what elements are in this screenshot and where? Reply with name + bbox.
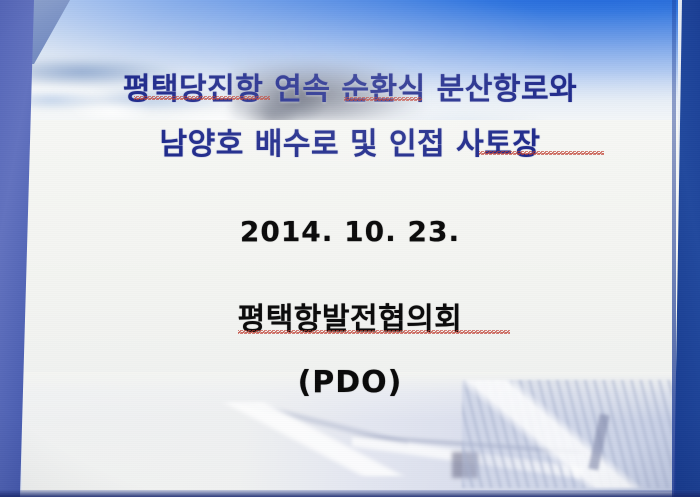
spellcheck-underline-organization (238, 330, 510, 334)
spellcheck-underline-sunhwansik (344, 97, 422, 101)
surround-right-edge (672, 0, 676, 497)
slide-text-content: 평택당진항 연속 순환식 분산항로와 남양호 배수로 및 인접 사토장 2014… (22, 0, 678, 492)
spellcheck-underline-pyeongtaek-dangjin-port (134, 96, 270, 100)
slide-title-line-1: 평택당진항 연속 순환식 분산항로와 (22, 64, 678, 108)
slide-date: 2014. 10. 23. (22, 215, 678, 248)
slide-organization-abbreviation: (PDO) (22, 365, 678, 400)
surround-bottom-band (0, 490, 700, 497)
slide-title-line-2: 남양호 배수로 및 인접 사토장 (22, 119, 678, 163)
projected-slide-photo: 평택당진항 연속 순환식 분산항로와 남양호 배수로 및 인접 사토장 2014… (0, 0, 700, 497)
spellcheck-underline-satojang (479, 151, 604, 155)
slide-surface: 평택당진항 연속 순환식 분산항로와 남양호 배수로 및 인접 사토장 2014… (22, 0, 678, 492)
